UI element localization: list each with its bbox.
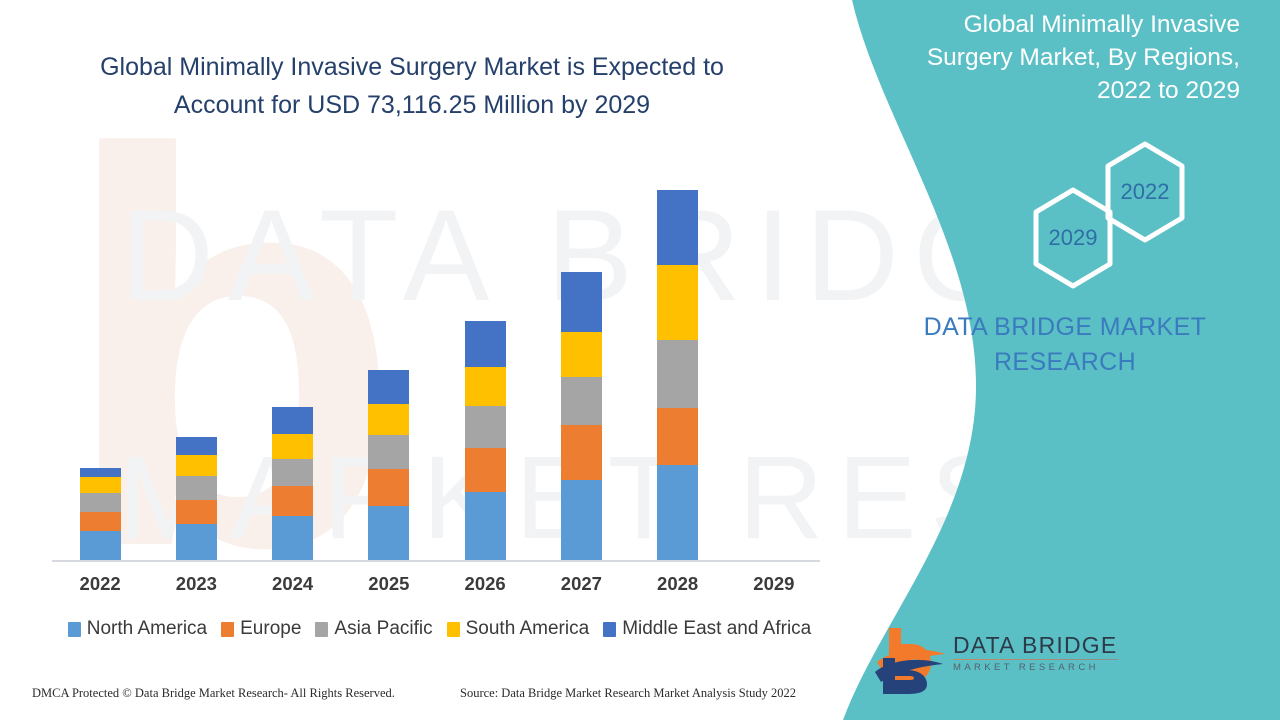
bar-segment [80, 468, 121, 477]
stacked-bar [368, 370, 409, 560]
legend-swatch-icon [221, 622, 234, 637]
bar-segment [657, 340, 698, 408]
legend-swatch-icon [447, 622, 460, 637]
panel-title: Global Minimally Invasive Surgery Market… [910, 8, 1240, 107]
bar-segment [561, 332, 602, 377]
bar-column [341, 170, 437, 560]
bar-segment [176, 455, 217, 476]
bar-segment [80, 531, 121, 560]
bar-segment [80, 512, 121, 531]
bar-column [148, 170, 244, 560]
chart-plot-area [52, 170, 822, 562]
bar-segment [368, 506, 409, 560]
legend-item[interactable]: Middle East and Africa [603, 618, 811, 640]
bar-segment [561, 377, 602, 425]
hexagon-start-year: 2022 [1100, 140, 1190, 244]
hexagon-group: 2029 2022 [960, 140, 1260, 290]
bar-segment [272, 459, 313, 486]
bar-segment [272, 516, 313, 560]
bar-segment [80, 477, 121, 493]
x-axis-label: 2027 [533, 573, 629, 595]
panel-brand-name: DATA BRIDGE MARKET RESEARCH [880, 310, 1250, 380]
bar-segment [368, 469, 409, 506]
legend-item[interactable]: Asia Pacific [315, 618, 432, 640]
stacked-bar [561, 272, 602, 560]
legend-item[interactable]: Europe [221, 618, 301, 640]
x-axis-label: 2022 [52, 573, 148, 595]
bar-segment [465, 492, 506, 560]
bar-segment [657, 408, 698, 465]
x-axis-label: 2023 [148, 573, 244, 595]
bar-series-container [52, 170, 822, 560]
logo-main-text: DATA BRIDGE [953, 632, 1118, 658]
logo-mark-icon [875, 624, 947, 694]
logo-sub-text: MARKET RESEARCH [953, 662, 1118, 674]
bar-segment [368, 370, 409, 404]
bar-column [437, 170, 533, 560]
stacked-bar [657, 190, 698, 560]
footer-source: Source: Data Bridge Market Research Mark… [460, 686, 796, 701]
x-axis-label: 2024 [245, 573, 341, 595]
x-axis-line [52, 560, 820, 562]
bar-segment [561, 272, 602, 332]
x-axis-label: 2026 [437, 573, 533, 595]
stacked-bar [80, 468, 121, 560]
logo-divider [953, 659, 1118, 660]
bar-segment [176, 476, 217, 500]
legend-label: North America [87, 618, 207, 640]
bar-segment [465, 321, 506, 367]
bar-column [245, 170, 341, 560]
bar-segment [657, 265, 698, 340]
bar-segment [465, 406, 506, 448]
chart-title: Global Minimally Invasive Surgery Market… [62, 48, 762, 124]
stacked-bar [465, 321, 506, 560]
bar-segment [176, 524, 217, 560]
hexagon-start-year-label: 2022 [1100, 140, 1190, 244]
x-axis-tick-labels: 20222023202420252026202720282029 [52, 573, 822, 603]
x-axis-label: 2025 [341, 573, 437, 595]
teal-panel-content: Global Minimally Invasive Surgery Market… [820, 0, 1280, 720]
x-axis-label: 2029 [726, 573, 822, 595]
data-bridge-logo: DATA BRIDGE MARKET RESEARCH [875, 622, 1115, 702]
bar-segment [561, 425, 602, 480]
bar-segment [368, 404, 409, 435]
legend-label: Middle East and Africa [622, 618, 811, 640]
bar-column [726, 170, 822, 560]
legend-item[interactable]: North America [68, 618, 207, 640]
bar-column [630, 170, 726, 560]
legend-label: Asia Pacific [334, 618, 432, 640]
bar-segment [176, 437, 217, 455]
legend-swatch-icon [68, 622, 81, 637]
bar-column [52, 170, 148, 560]
bar-segment [272, 407, 313, 434]
stacked-bar [272, 407, 313, 560]
poster-canvas: b DATA BRIDGE MARKET RESEARCH Global Min… [0, 0, 1280, 720]
footer-copyright: DMCA Protected © Data Bridge Market Rese… [32, 686, 395, 701]
bar-column [533, 170, 629, 560]
legend-item[interactable]: South America [447, 618, 590, 640]
bar-segment [368, 435, 409, 469]
legend-swatch-icon [603, 622, 616, 637]
logo-wordmark: DATA BRIDGE MARKET RESEARCH [953, 632, 1118, 674]
chart-legend: North AmericaEuropeAsia PacificSouth Ame… [52, 614, 827, 644]
legend-swatch-icon [315, 622, 328, 637]
bar-segment [272, 434, 313, 459]
bar-segment [465, 448, 506, 492]
bar-segment [272, 486, 313, 516]
bar-segment [657, 190, 698, 265]
bar-segment [80, 493, 121, 512]
legend-label: South America [466, 618, 590, 640]
stacked-bar [176, 437, 217, 560]
bar-segment [561, 480, 602, 560]
bar-segment [657, 465, 698, 560]
x-axis-label: 2028 [630, 573, 726, 595]
legend-label: Europe [240, 618, 301, 640]
bar-segment [176, 500, 217, 524]
bar-segment [465, 367, 506, 406]
